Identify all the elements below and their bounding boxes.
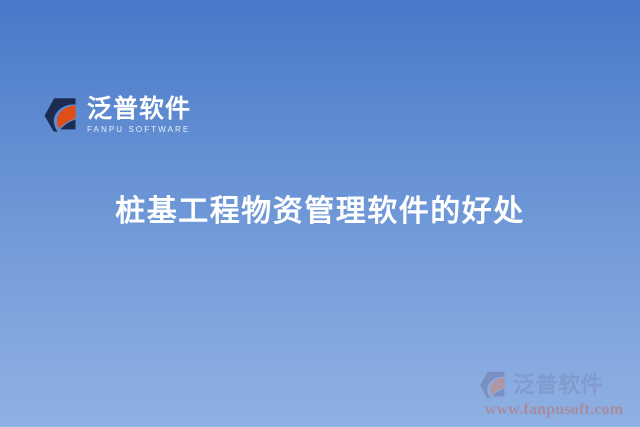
watermark-lockup: 泛普软件 bbox=[478, 370, 630, 400]
brand-logo: 泛普软件 FANPU SOFTWARE bbox=[42, 96, 191, 134]
brand-wordmark: 泛普软件 FANPU SOFTWARE bbox=[87, 96, 191, 133]
fanpu-hexagon-swoosh-watermark-icon bbox=[478, 370, 508, 400]
fanpu-hexagon-swoosh-logo-icon bbox=[42, 96, 80, 134]
watermark-url: www.fanpusoft.com bbox=[478, 401, 630, 419]
brand-name-en: FANPU SOFTWARE bbox=[87, 126, 191, 134]
brand-name-cn: 泛普软件 bbox=[87, 96, 191, 122]
watermark-name-cn: 泛普软件 bbox=[513, 374, 603, 396]
page-title: 桩基工程物资管理软件的好处 bbox=[0, 193, 640, 231]
poster-canvas: 泛普软件 FANPU SOFTWARE 桩基工程物资管理软件的好处 泛普软件 w… bbox=[0, 0, 640, 427]
watermark: 泛普软件 www.fanpusoft.com bbox=[478, 370, 630, 419]
